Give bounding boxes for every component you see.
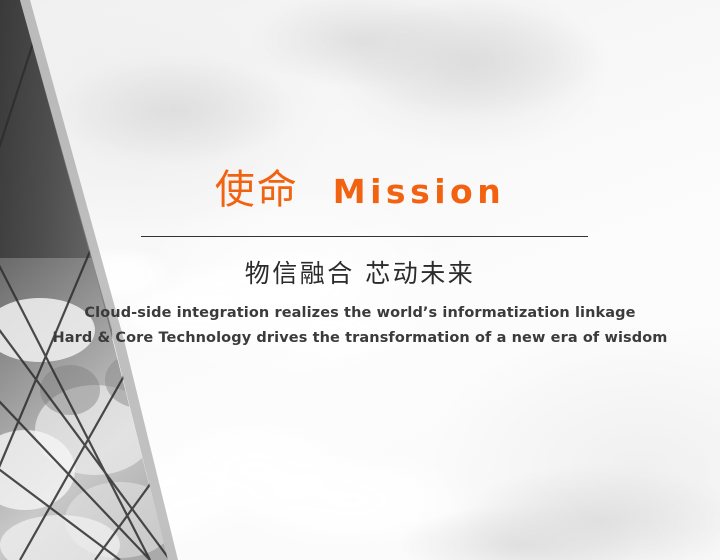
tower-reflections: [0, 258, 200, 560]
page-title-english: Mission: [333, 175, 505, 208]
tagline-line-1: Cloud-side integration realizes the worl…: [0, 305, 720, 322]
page-title-chinese: 使命: [215, 170, 299, 210]
mission-banner: 使命 Mission 物信融合 芯动未来 Cloud-side integrat…: [0, 0, 720, 560]
title-divider: [141, 236, 588, 237]
subtitle-chinese: 物信融合 芯动未来: [0, 258, 720, 289]
cloud-group-lower: [55, 415, 720, 560]
hero-title-row: 使命 Mission: [0, 170, 720, 210]
cloud-group-upper: [55, 0, 600, 165]
tagline-line-2: Hard & Core Technology drives the transf…: [0, 330, 720, 347]
